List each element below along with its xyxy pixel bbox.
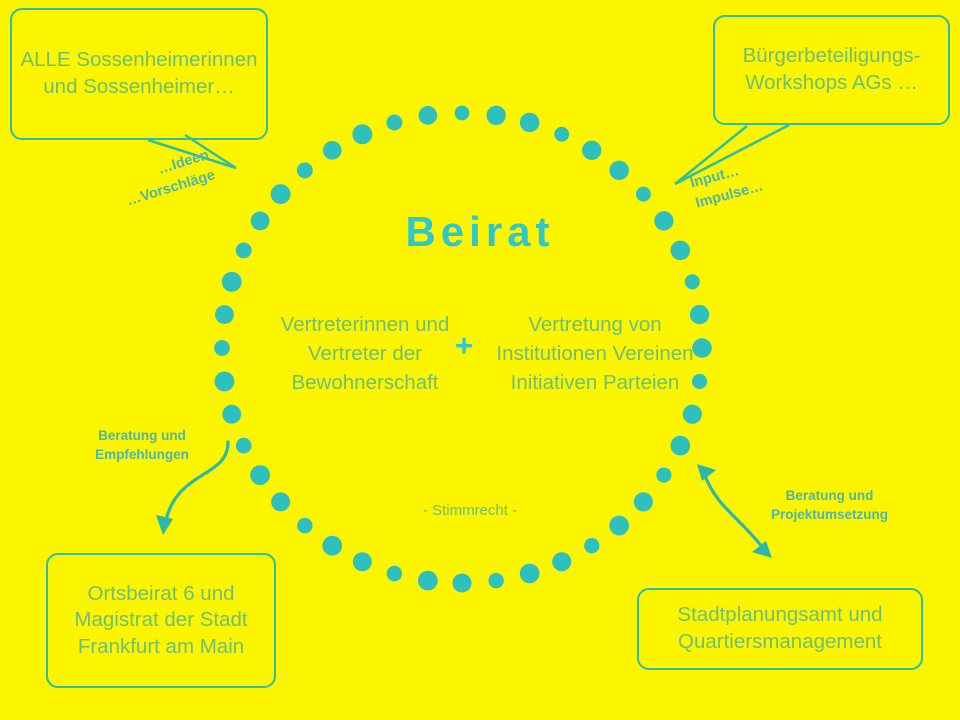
label-beratung-empfehlungen: Beratung und Empfehlungen	[72, 426, 212, 464]
ring-dot	[636, 187, 651, 202]
ring-dot	[582, 141, 601, 160]
diagram-canvas: ALLE Sossenheimerinnen und Sossenheimer……	[0, 0, 960, 720]
ring-dot	[552, 552, 571, 571]
ring-dot	[452, 573, 471, 592]
ring-dot	[353, 552, 372, 571]
bubble-stadtplanungsamt-text: Stadtplanungsamt und Quartiersmanagement	[639, 602, 921, 655]
ring-dot	[323, 141, 342, 160]
center-column-right: Vertretung von Institutionen Vereinen In…	[480, 310, 710, 397]
ring-dot	[656, 467, 671, 482]
ring-dot	[215, 372, 235, 392]
bubble-stadtplanungsamt[interactable]: Stadtplanungsamt und Quartiersmanagement	[637, 588, 923, 670]
arrowhead-down-projektumsetzung	[752, 541, 772, 558]
ring-dot	[297, 162, 313, 178]
ring-dot	[387, 566, 402, 581]
ring-dot	[214, 340, 230, 356]
ring-dot	[352, 124, 372, 144]
ring-dot	[455, 106, 470, 121]
ring-dot	[685, 274, 700, 289]
plus-icon: +	[451, 333, 477, 359]
ring-dot	[683, 405, 702, 424]
ring-dot	[215, 305, 234, 324]
label-beratung-projektumsetzung: Beratung und Projektumsetzung	[742, 486, 917, 524]
bubble-ortsbeirat[interactable]: Ortsbeirat 6 und Magistrat der Stadt Fra…	[46, 553, 276, 688]
ring-dot	[322, 536, 342, 556]
ring-dot	[670, 436, 690, 456]
bubble-alle-sossenheimer[interactable]: ALLE Sossenheimerinnen und Sossenheimer…	[10, 8, 268, 140]
arrowhead-beratung-empfehlungen	[156, 515, 173, 535]
bubble-alle-sossenheimer-text: ALLE Sossenheimerinnen und Sossenheimer…	[12, 47, 266, 100]
ring-dot	[418, 571, 438, 591]
ring-dot	[609, 161, 629, 181]
ring-dot	[609, 516, 629, 536]
ring-dot	[488, 573, 503, 588]
ring-dot	[486, 106, 505, 125]
ring-dot	[236, 438, 252, 454]
ring-dot	[554, 127, 569, 142]
ring-dot	[520, 113, 539, 132]
ring-dot	[634, 492, 653, 511]
bubble-buergerbeteiligung-text: Bürgerbeteiligungs- Workshops AGs …	[715, 43, 948, 96]
ring-dot	[271, 492, 290, 511]
bubble-ortsbeirat-text: Ortsbeirat 6 und Magistrat der Stadt Fra…	[48, 581, 274, 661]
ring-dot	[222, 272, 242, 292]
ring-dot	[520, 564, 540, 584]
ring-dot	[222, 405, 241, 424]
center-column-left: Vertreterinnen und Vertreter der Bewohne…	[250, 310, 480, 397]
stimmrecht-note: - Stimmrecht -	[350, 500, 590, 521]
ring-dot	[584, 538, 599, 553]
ring-dot	[419, 106, 438, 125]
ring-dot	[250, 465, 270, 485]
ring-dot	[297, 518, 313, 534]
bubble-buergerbeteiligung[interactable]: Bürgerbeteiligungs- Workshops AGs …	[713, 15, 950, 125]
page-title: Beirat	[0, 202, 960, 262]
ring-dot	[386, 115, 402, 131]
